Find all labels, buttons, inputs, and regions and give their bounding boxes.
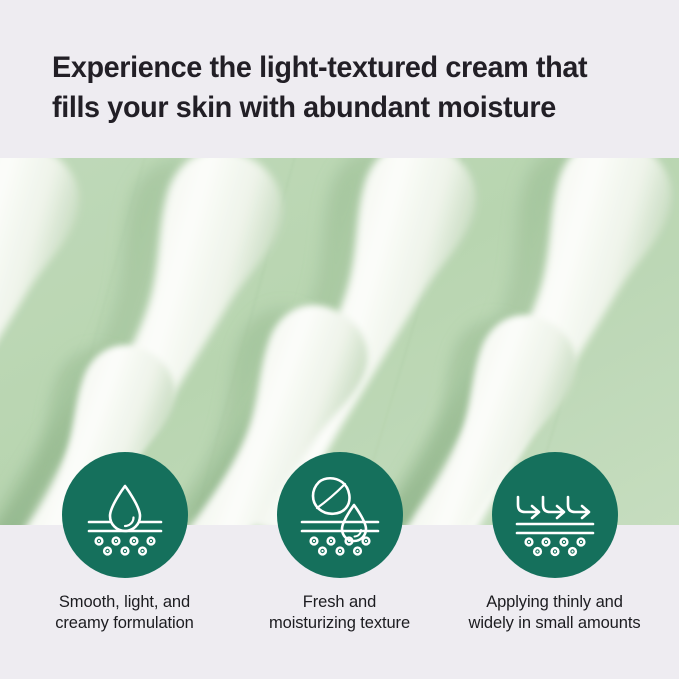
feature-icon-circle bbox=[492, 452, 618, 578]
feature-caption-line-2: moisturizing texture bbox=[232, 613, 447, 634]
feature-icon-circle bbox=[62, 452, 188, 578]
feature-caption-line-2: creamy formulation bbox=[17, 613, 232, 634]
droplet-absorb-icon bbox=[82, 472, 168, 558]
feature-icon-circle bbox=[277, 452, 403, 578]
feature-caption-line-2: widely in small amounts bbox=[447, 613, 662, 634]
headline-line-2: fills your skin with abundant moisture bbox=[52, 88, 616, 128]
headline-block: Experience the light-textured cream that… bbox=[0, 0, 679, 158]
feature-caption-line-1: Smooth, light, and bbox=[17, 592, 232, 613]
feature-caption: Applying thinly and widely in small amou… bbox=[447, 592, 662, 634]
feature-caption-line-1: Applying thinly and bbox=[447, 592, 662, 613]
feature-item-fresh-moisturizing: Fresh and moisturizing texture bbox=[232, 452, 447, 634]
leaf-droplet-icon bbox=[297, 472, 383, 558]
feature-caption-line-1: Fresh and bbox=[232, 592, 447, 613]
feature-item-thin-wide-application: Applying thinly and widely in small amou… bbox=[447, 452, 662, 634]
feature-item-smooth-creamy: Smooth, light, and creamy formulation bbox=[17, 452, 232, 634]
product-feature-banner: Experience the light-textured cream that… bbox=[0, 0, 679, 679]
feature-caption: Fresh and moisturizing texture bbox=[232, 592, 447, 634]
spreading-arrows-icon bbox=[512, 472, 598, 558]
headline-line-1: Experience the light-textured cream that bbox=[52, 48, 616, 88]
feature-caption: Smooth, light, and creamy formulation bbox=[17, 592, 232, 634]
